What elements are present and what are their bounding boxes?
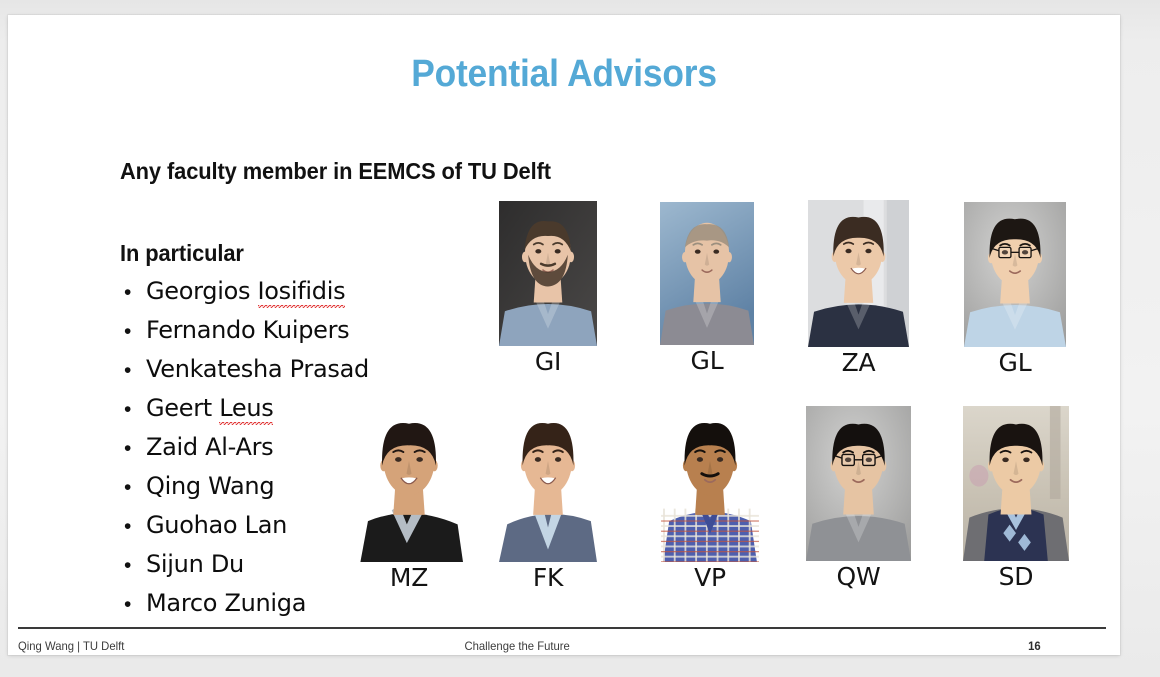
advisor-photo-cell: FK xyxy=(497,405,599,591)
advisor-photo-cell: SD xyxy=(963,406,1069,590)
bullet-dot-icon: • xyxy=(120,516,146,537)
advisor-photo-caption: GL xyxy=(660,348,754,374)
bullet-label: Georgios Iosifidis xyxy=(146,277,345,305)
bullet-dot-icon: • xyxy=(120,321,146,342)
portrait-gi xyxy=(499,201,597,346)
bullet-label: Qing Wang xyxy=(146,472,274,500)
advisor-photo-caption: VP xyxy=(659,565,761,591)
advisor-photo-caption: GI xyxy=(499,349,597,375)
bullet-label: Marco Zuniga xyxy=(146,589,306,617)
slide-title: Potential Advisors xyxy=(47,53,1081,96)
advisor-photo-cell: VP xyxy=(659,405,761,591)
bullet-label: Fernando Kuipers xyxy=(146,316,349,344)
advisor-photo-cell: ZA xyxy=(808,200,909,376)
advisor-photo-caption: MZ xyxy=(355,565,463,591)
advisor-photo-caption: GL xyxy=(964,350,1066,376)
slide-footer: Qing Wang | TU Delft Challenge the Futur… xyxy=(18,635,1041,655)
screenshot-canvas: Potential Advisors Any faculty member in… xyxy=(0,0,1160,677)
misspelled-word: Iosifidis xyxy=(258,277,346,308)
portrait-gl-2 xyxy=(964,202,1066,347)
advisor-photo-cell: QW xyxy=(806,406,911,590)
heading-faculty-member: Any faculty member in EEMCS of TU Delft xyxy=(120,158,551,185)
bullet-dot-icon: • xyxy=(120,438,146,459)
advisor-photo-cell: GL xyxy=(964,202,1066,376)
bullet-item: •Venkatesha Prasad xyxy=(120,355,480,394)
bullet-label: Geert Leus xyxy=(146,394,273,422)
portrait-sd xyxy=(963,406,1069,561)
bullet-item: •Fernando Kuipers xyxy=(120,316,480,355)
portrait-qw xyxy=(806,406,911,561)
advisor-photo-caption: FK xyxy=(497,565,599,591)
portrait-za xyxy=(808,200,909,347)
bullet-dot-icon: • xyxy=(120,360,146,381)
presentation-slide: Potential Advisors Any faculty member in… xyxy=(8,15,1120,655)
footer-divider xyxy=(18,627,1106,629)
advisor-photo-caption: SD xyxy=(963,564,1069,590)
bullet-dot-icon: • xyxy=(120,282,146,303)
bullet-label: Guohao Lan xyxy=(146,511,287,539)
misspelled-word: Leus xyxy=(219,394,273,425)
advisor-photo-cell: GI xyxy=(499,201,597,375)
bullet-label: Zaid Al-Ars xyxy=(146,433,273,461)
portrait-fk xyxy=(497,405,599,562)
portrait-vp xyxy=(659,405,761,562)
footer-page-number: 16 xyxy=(771,639,1040,653)
footer-author: Qing Wang | TU Delft xyxy=(18,639,448,653)
footer-tagline: Challenge the Future xyxy=(448,639,772,653)
portrait-gl-1 xyxy=(660,202,754,345)
bullet-dot-icon: • xyxy=(120,477,146,498)
bullet-item: •Marco Zuniga xyxy=(120,589,480,628)
advisor-photo-caption: ZA xyxy=(808,350,909,376)
bullet-dot-icon: • xyxy=(120,594,146,615)
bullet-dot-icon: • xyxy=(120,399,146,420)
heading-in-particular: In particular xyxy=(120,240,244,267)
bullet-label: Venkatesha Prasad xyxy=(146,355,369,383)
bullet-label: Sijun Du xyxy=(146,550,244,578)
bullet-dot-icon: • xyxy=(120,555,146,576)
portrait-mz xyxy=(355,405,463,562)
bullet-item: •Georgios Iosifidis xyxy=(120,277,480,316)
advisor-photo-cell: GL xyxy=(660,202,754,374)
advisor-photo-caption: QW xyxy=(806,564,911,590)
advisor-photo-cell: MZ xyxy=(355,405,463,591)
